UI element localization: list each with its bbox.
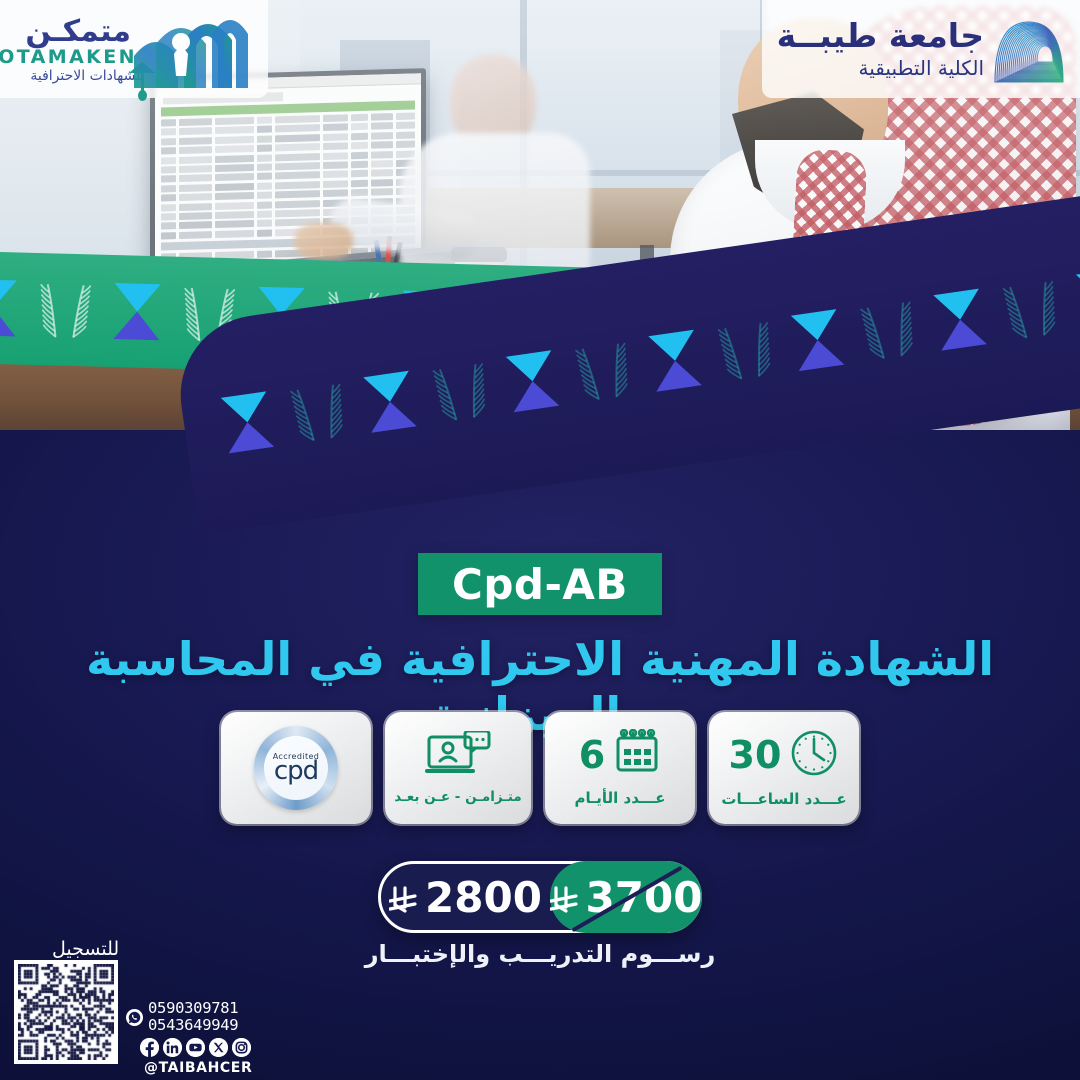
whatsapp-icon[interactable] bbox=[126, 1009, 143, 1026]
taibah-logo: جامعة طيبــة الكلية التطبيقية bbox=[770, 10, 1070, 90]
days-value: 6 bbox=[579, 736, 605, 774]
hourglass-motif bbox=[648, 330, 702, 392]
university-logo-bar: جامعة طيبــة الكلية التطبيقية bbox=[762, 0, 1080, 98]
social-icons bbox=[140, 1038, 336, 1057]
clock-icon bbox=[789, 728, 839, 782]
calendar-icon bbox=[613, 729, 661, 781]
saudi-riyal-icon bbox=[389, 880, 419, 914]
palm-frond-motif bbox=[1001, 277, 1063, 342]
promotional-poster: متمكـن MOTAMAKEN للشهادات الاحترافية bbox=[0, 0, 1080, 1080]
motamaken-logo: متمكـن MOTAMAKEN للشهادات الاحترافية bbox=[8, 8, 263, 92]
old-price: 3700 bbox=[550, 861, 702, 933]
badge-delivery-mode: متـزامـن - عـن بعـد bbox=[385, 712, 531, 824]
hourglass-motif bbox=[363, 371, 417, 433]
x-twitter-icon[interactable] bbox=[209, 1038, 228, 1057]
fee-caption: رســـوم التدريـــب والإختبـــار bbox=[0, 940, 1080, 968]
hours-value: 30 bbox=[729, 736, 782, 774]
registration-label: للتسجيل bbox=[52, 938, 119, 960]
palm-frond-motif bbox=[858, 297, 920, 362]
youtube-icon[interactable] bbox=[186, 1038, 205, 1057]
hourglass-motif bbox=[221, 391, 275, 453]
cpd-text: cpd bbox=[274, 758, 318, 784]
qr-code-icon[interactable] bbox=[14, 960, 118, 1064]
phone-2: 0543649949 bbox=[148, 1016, 238, 1034]
phone-numbers: 0590309781 0543649949 bbox=[148, 1000, 238, 1035]
hourglass-motif bbox=[1076, 268, 1080, 330]
taibah-spiral-logo bbox=[990, 14, 1068, 86]
badge-days-count: 6 bbox=[545, 712, 695, 824]
palm-frond-motif bbox=[573, 338, 635, 403]
hourglass-motif bbox=[113, 283, 160, 340]
contact-block: 0590309781 0543649949 @TAIBAHCER bbox=[126, 1000, 336, 1076]
new-price: 2800 bbox=[381, 873, 550, 922]
course-code-label: Cpd-AB bbox=[452, 560, 628, 609]
course-code-chip: Cpd-AB bbox=[418, 553, 662, 615]
hourglass-motif bbox=[933, 289, 987, 351]
hourglass-motif bbox=[0, 279, 17, 336]
price-pill: 2800 3700 bbox=[378, 861, 702, 933]
phone-1: 0590309781 bbox=[148, 999, 238, 1017]
palm-frond-motif bbox=[430, 359, 492, 424]
hourglass-motif bbox=[791, 309, 845, 371]
motamaken-arches-logo bbox=[126, 10, 256, 90]
university-name: جامعة طيبــة bbox=[777, 16, 984, 55]
laptop-webinar-icon bbox=[425, 731, 491, 781]
badge-cpd-accreditation: Accredited cpd bbox=[221, 712, 371, 824]
delivery-mode-label: متـزامـن - عـن بعـد bbox=[394, 789, 521, 805]
hours-label: عـــدد الساعـــات bbox=[721, 790, 846, 808]
badge-hours-count: 30 عـــدد الساعـــات bbox=[709, 712, 859, 824]
facebook-icon[interactable] bbox=[140, 1038, 159, 1057]
motamaken-logo-bar: متمكـن MOTAMAKEN للشهادات الاحترافية bbox=[0, 0, 268, 98]
cpd-seal-icon: Accredited cpd bbox=[254, 726, 338, 810]
hourglass-motif bbox=[506, 350, 560, 412]
college-name: الكلية التطبيقية bbox=[859, 56, 984, 80]
feature-badges: Accredited cpd متـزامـن - bbox=[0, 712, 1080, 824]
palm-frond-motif bbox=[288, 380, 350, 445]
motamaken-english-name: MOTAMAKEN bbox=[0, 46, 137, 68]
linkedin-icon[interactable] bbox=[163, 1038, 182, 1057]
palm-frond-motif bbox=[37, 280, 92, 339]
palm-frond-motif bbox=[715, 318, 777, 383]
instagram-icon[interactable] bbox=[232, 1038, 251, 1057]
motamaken-arabic-name: متمكـن bbox=[25, 14, 131, 49]
social-handle: @TAIBAHCER bbox=[144, 1060, 336, 1076]
new-price-value: 2800 bbox=[425, 873, 542, 922]
days-label: عـــدد الأيـام bbox=[574, 789, 665, 807]
saudi-riyal-icon-old bbox=[550, 880, 580, 914]
